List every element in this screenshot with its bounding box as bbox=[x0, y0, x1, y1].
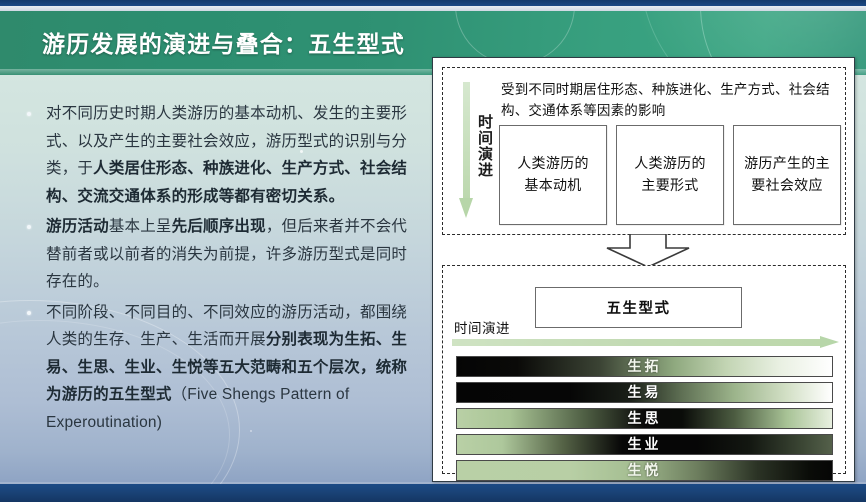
slide-title: 游历发展的演进与叠合：五生型式 bbox=[42, 25, 405, 59]
result-title-text: 五生型式 bbox=[607, 297, 671, 318]
stage-box-line2: 要社会效应 bbox=[751, 178, 823, 194]
bullet-list: 对不同历史时期人类游历的基本动机、发生的主要形式、以及产生的主要社会效应，游历型… bbox=[22, 100, 422, 439]
sheng-bar: 生悦 bbox=[456, 460, 833, 481]
sheng-bar-label: 生思 bbox=[628, 412, 662, 426]
bullet-emphasis: 先后顺序出现 bbox=[172, 218, 266, 235]
bullet-text: 游历活动基本上呈先后顺序出现，但后来者并不会代替前者或以前者的消失为前提，许多游… bbox=[46, 218, 407, 290]
sheng-bar: 生思 bbox=[456, 408, 833, 429]
sheng-bar: 生业 bbox=[456, 434, 833, 455]
vertical-time-label: 时间演进 bbox=[476, 114, 494, 178]
bullet-text: 对不同历史时期人类游历的基本动机、发生的主要形式、以及产生的主要社会效应，游历型… bbox=[46, 105, 407, 205]
sheng-bar-label: 生易 bbox=[628, 386, 662, 400]
stage-box-form: 人类游历的 主要形式 bbox=[616, 125, 724, 225]
stage-box-motive: 人类游历的 基本动机 bbox=[499, 125, 607, 225]
stage-box-line1: 人类游历的 bbox=[634, 156, 706, 172]
time-arrow-vertical-icon bbox=[459, 82, 473, 220]
sheng-bar-list: 生拓 生易 生思 生业 生悦 bbox=[456, 356, 833, 486]
result-title-box: 五生型式 bbox=[535, 287, 742, 328]
bullet-dot-icon bbox=[27, 311, 31, 315]
stage-box-line1: 人类游历的 bbox=[517, 156, 589, 172]
sheng-bar-label: 生悦 bbox=[628, 464, 662, 478]
sheng-bar-label: 生拓 bbox=[628, 360, 662, 374]
stage-box-row: 人类游历的 基本动机 人类游历的 主要形式 游历产生的主 要社会效应 bbox=[499, 125, 841, 225]
bullet-dot-icon bbox=[27, 225, 31, 229]
stage-box-line2: 基本动机 bbox=[524, 178, 581, 194]
diagram-lower-section: 五生型式 时间演进 生拓 生易 生思 生业 bbox=[442, 265, 846, 474]
stage-box-line2: 主要形式 bbox=[641, 178, 698, 194]
diagram-upper-section: 时间演进 受到不同时期居住形态、种族进化、生产方式、社会结构、交通体系等因素的影… bbox=[442, 67, 846, 235]
diagram-header-text: 受到不同时期居住形态、种族进化、生产方式、社会结构、交通体系等因素的影响 bbox=[501, 80, 837, 122]
bullet-dot-icon bbox=[27, 112, 31, 116]
bullet-plain: 基本上呈 bbox=[109, 218, 172, 235]
flow-down-arrow-icon bbox=[605, 234, 691, 268]
stage-box-effect: 游历产生的主 要社会效应 bbox=[733, 125, 841, 225]
sheng-bar: 生易 bbox=[456, 382, 833, 403]
horizontal-time-label: 时间演进 bbox=[454, 317, 510, 337]
bullet-item: 游历活动基本上呈先后顺序出现，但后来者并不会代替前者或以前者的消失为前提，许多游… bbox=[22, 213, 422, 296]
time-arrow-horizontal-icon bbox=[452, 336, 839, 349]
bullet-item: 不同阶段、不同目的、不同效应的游历活动，都围绕人类的生存、生产、生活而开展分别表… bbox=[22, 299, 422, 437]
slide-canvas: 游历发展的演进与叠合：五生型式 对不同历史时期人类游历的基本动机、发生的主要形式… bbox=[0, 0, 866, 502]
footer-bar bbox=[0, 484, 866, 502]
sheng-bar-label: 生业 bbox=[628, 438, 662, 452]
stage-box-line1: 游历产生的主 bbox=[744, 156, 830, 172]
bullet-text: 不同阶段、不同目的、不同效应的游历活动，都围绕人类的生存、生产、生活而开展分别表… bbox=[46, 304, 407, 431]
diagram-panel: 时间演进 受到不同时期居住形态、种族进化、生产方式、社会结构、交通体系等因素的影… bbox=[432, 57, 855, 482]
bullet-item: 对不同历史时期人类游历的基本动机、发生的主要形式、以及产生的主要社会效应，游历型… bbox=[22, 100, 422, 210]
bullet-emphasis: 人类居住形态、种族进化、生产方式、社会结构、交流交通体系的形成等都有密切关系。 bbox=[46, 160, 407, 205]
bullet-emphasis: 游历活动 bbox=[46, 218, 109, 235]
sheng-bar: 生拓 bbox=[456, 356, 833, 377]
